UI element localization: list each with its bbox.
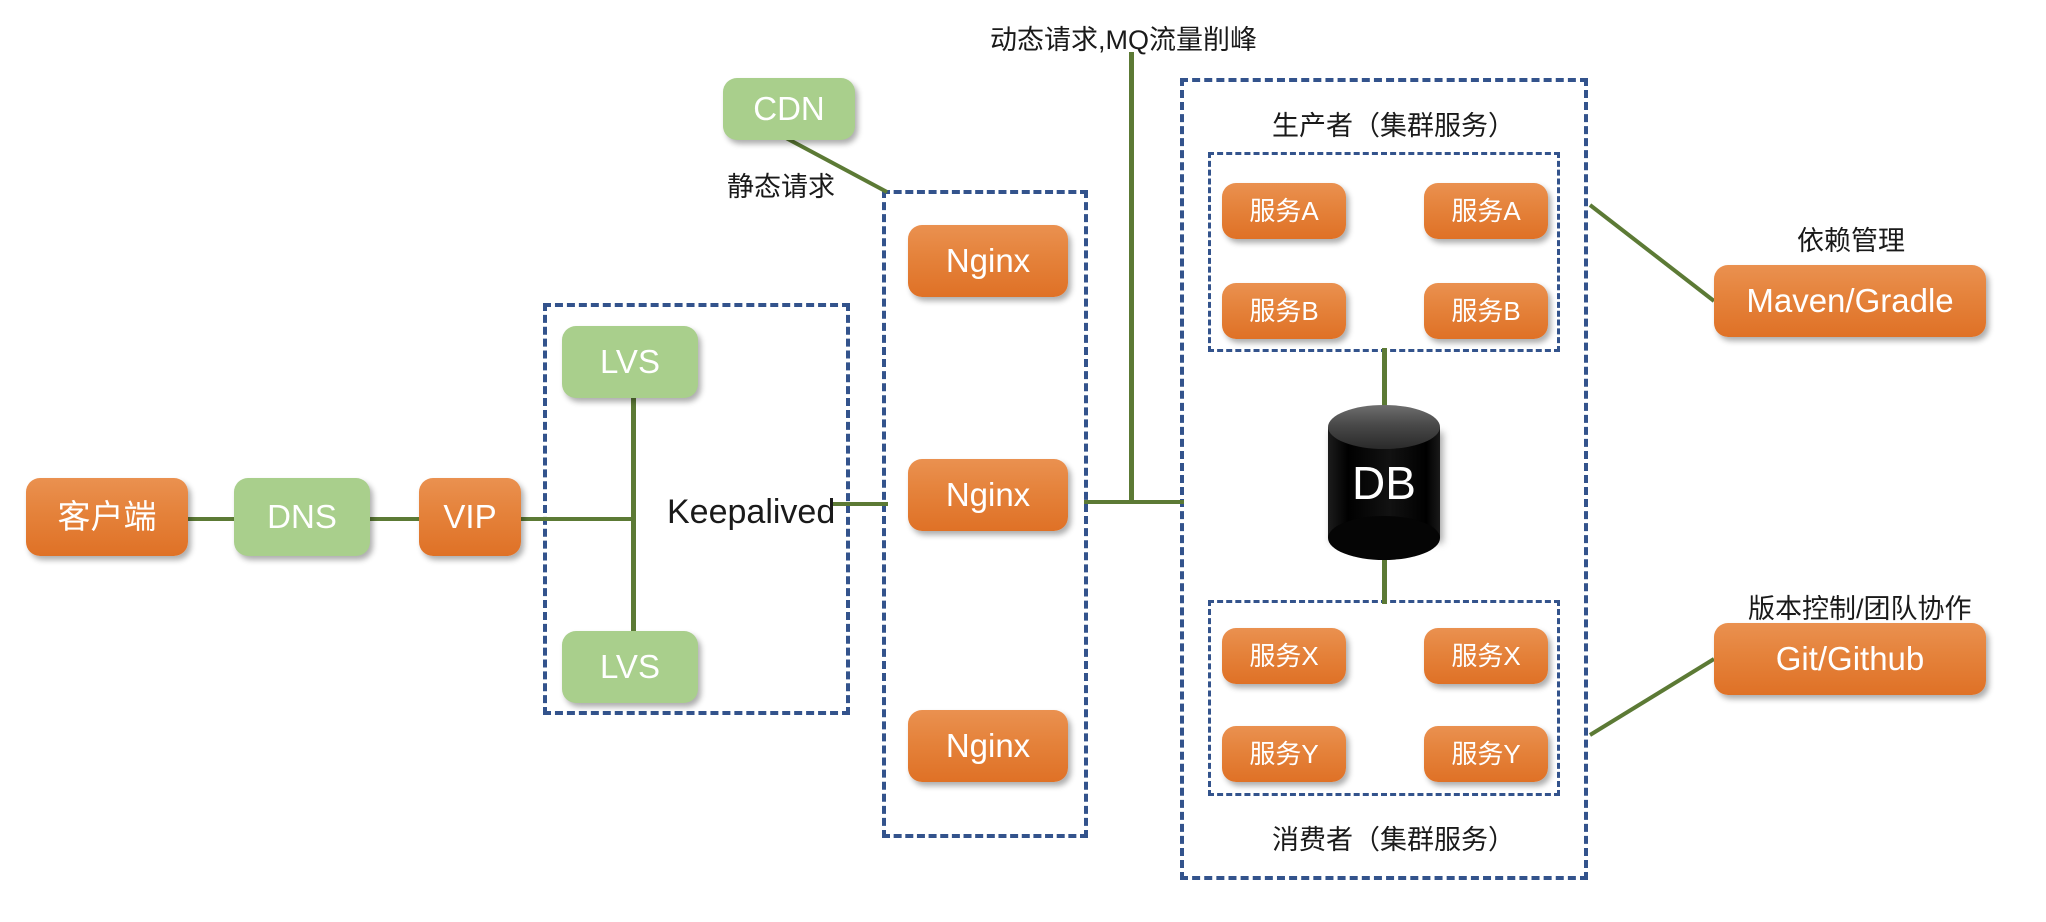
node-nginx-2[interactable]: Nginx	[908, 459, 1068, 531]
node-nginx-3[interactable]: Nginx	[908, 710, 1068, 782]
architecture-diagram-canvas: 动态请求,MQ流量削峰 静态请求 Keepalived 生产者（集群服务） 消费…	[0, 0, 2046, 922]
label-keepalived: Keepalived	[667, 493, 835, 532]
label-producer-title: 生产者（集群服务）	[1272, 104, 1515, 143]
node-cdn[interactable]: CDN	[723, 78, 855, 140]
node-vip[interactable]: VIP	[419, 478, 521, 556]
node-git-github[interactable]: Git/Github	[1714, 623, 1986, 695]
node-service-b-right[interactable]: 服务B	[1424, 283, 1548, 339]
node-lvs-bottom[interactable]: LVS	[562, 631, 698, 703]
node-lvs-top[interactable]: LVS	[562, 326, 698, 398]
node-maven-gradle[interactable]: Maven/Gradle	[1714, 265, 1986, 337]
label-dynamic-request: 动态请求,MQ流量削峰	[990, 18, 1257, 57]
label-dependency-management: 依赖管理	[1797, 219, 1905, 258]
node-database-cylinder[interactable]: DB	[1328, 405, 1440, 560]
node-service-x-left[interactable]: 服务X	[1222, 628, 1346, 684]
label-static-request: 静态请求	[727, 165, 835, 204]
node-service-x-right[interactable]: 服务X	[1424, 628, 1548, 684]
node-client[interactable]: 客户端	[26, 478, 188, 556]
database-label: DB	[1328, 405, 1440, 560]
node-dns[interactable]: DNS	[234, 478, 370, 556]
node-service-b-left[interactable]: 服务B	[1222, 283, 1346, 339]
node-service-a-left[interactable]: 服务A	[1222, 183, 1346, 239]
node-nginx-1[interactable]: Nginx	[908, 225, 1068, 297]
label-version-control: 版本控制/团队协作	[1748, 587, 1972, 626]
node-service-y-right[interactable]: 服务Y	[1424, 726, 1548, 782]
label-consumer-title: 消费者（集群服务）	[1272, 818, 1515, 857]
node-service-y-left[interactable]: 服务Y	[1222, 726, 1346, 782]
node-service-a-right[interactable]: 服务A	[1424, 183, 1548, 239]
